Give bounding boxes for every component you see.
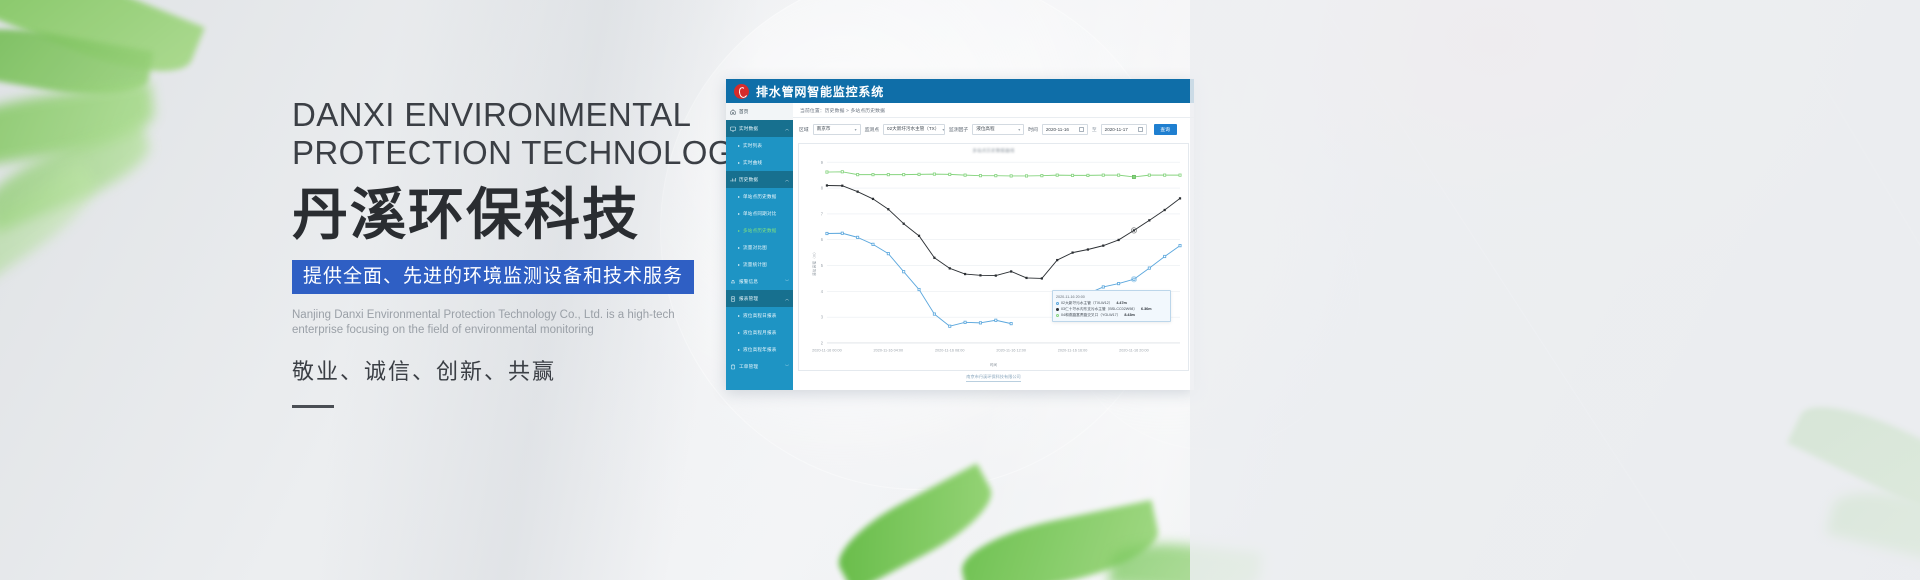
sidebar-item-home[interactable]: 首页	[726, 103, 793, 120]
bullet-icon	[738, 145, 740, 147]
sidebar-subitem-label: 液位高程月报表	[743, 330, 777, 336]
headline-english-line2: PROTECTION TECHNOLOGY	[292, 134, 722, 172]
series-marker-icon	[1056, 314, 1059, 317]
headline-english-line1: DANXI ENVIRONMENTAL	[292, 96, 722, 134]
chevron-up-icon: ︿	[785, 177, 789, 183]
chevron-down-icon: ▾	[942, 127, 944, 132]
sidebar-item-history-data[interactable]: 历史数据 ︿	[726, 171, 793, 188]
date-end-value: 2020-11-17	[1105, 127, 1128, 132]
region-value: 南京市	[817, 126, 831, 132]
sidebar-subitem-label: 单站点历史数据	[743, 194, 777, 200]
bullet-icon	[738, 213, 740, 215]
svg-text:8: 8	[821, 186, 824, 191]
sidebar-subitem-single-site-history[interactable]: 单站点历史数据	[726, 188, 793, 205]
slogan-banner: 提供全面、先进的环境监测设备和技术服务	[292, 260, 694, 294]
svg-text:2020-11-16 12:00: 2020-11-16 12:00	[996, 348, 1026, 352]
calendar-icon	[1138, 127, 1143, 132]
document-icon	[730, 296, 736, 302]
sidebar-subitem-single-site-compare[interactable]: 单站点同期对比	[726, 205, 793, 222]
sidebar-subitem-label: 液位高程日报表	[743, 313, 777, 319]
chart-title: 多站点历史数据曲线	[799, 144, 1188, 154]
chevron-up-icon: ︿	[785, 126, 789, 132]
bullet-icon	[738, 315, 740, 317]
chevron-down-icon: ﹀	[785, 279, 789, 285]
bullet-icon	[738, 349, 740, 351]
sidebar-item-label: 历史数据	[739, 177, 782, 183]
home-icon	[730, 109, 736, 115]
svg-text:2: 2	[821, 340, 824, 345]
sidebar-subitem-realtime-curve[interactable]: 实时曲线	[726, 154, 793, 171]
chart-card: 多站点历史数据曲线 液位高程（m） 时间 987654322020-11-16 …	[798, 143, 1189, 371]
footer-company-link[interactable]: 南京市丹溪环保科技有限公司	[966, 374, 1020, 382]
sidebar-subitem-flow-statistics-chart[interactable]: 流量统计图	[726, 256, 793, 273]
date-range-separator: 至	[1092, 126, 1097, 133]
sidebar-subitem-level-monthly-report[interactable]: 液位高程月报表	[726, 324, 793, 341]
sidebar-subitem-realtime-list[interactable]: 实时列表	[726, 137, 793, 154]
tooltip-time: 2020-11-16 20:00	[1056, 294, 1167, 300]
sidebar-subitem-label: 流量统计图	[743, 262, 767, 268]
chevron-down-icon: ▾	[1018, 127, 1020, 132]
sidebar-item-realtime-data[interactable]: 实时数据 ︿	[726, 120, 793, 137]
series-marker-icon	[1056, 308, 1059, 311]
sidebar-item-label: 工单管理	[739, 364, 782, 370]
sidebar-subitem-level-yearly-report[interactable]: 液位高程年报表	[726, 341, 793, 358]
tooltip-series-value: 8.43m	[1124, 312, 1134, 318]
chevron-down-icon: ﹀	[785, 364, 789, 370]
chevron-down-icon: ▾	[855, 127, 857, 132]
tooltip-series-name: 04和燕路富贵路交叉口（YGLW17）	[1061, 312, 1120, 318]
tooltip-series-value: 6.36m	[1141, 306, 1151, 312]
sidebar-subitem-level-daily-report[interactable]: 液位高程日报表	[726, 307, 793, 324]
svg-text:7: 7	[821, 211, 824, 216]
filter-toolbar: 区域 南京市 ▾ 监测点 02大新圩污水主管（TX） ▾ 监测因子 液位高程 ▾…	[793, 118, 1194, 140]
sidebar-item-label: 实时数据	[739, 126, 782, 132]
sidebar-subitem-label: 单站点同期对比	[743, 211, 777, 217]
sidebar-subitem-label: 流量对比图	[743, 245, 767, 251]
bullet-icon	[738, 162, 740, 164]
bullet-icon	[738, 230, 740, 232]
danxi-logo-icon	[734, 84, 749, 99]
sidebar-subitem-label: 实时列表	[743, 143, 762, 149]
chevron-up-icon: ︿	[785, 296, 789, 302]
chart-tooltip: 2020-11-16 20:00 02大新圩污水主管（TXLW12） 4.47m…	[1052, 290, 1171, 322]
monitoring-app-window: 排水管网智能监控系统 首页 实时数据 ︿ 实时列表	[726, 79, 1194, 390]
time-label: 时间	[1028, 126, 1038, 133]
app-footer: 南京市丹溪环保科技有限公司	[793, 371, 1194, 385]
bullet-icon	[738, 264, 740, 266]
svg-text:3: 3	[821, 315, 824, 320]
svg-text:2020-11-16 04:00: 2020-11-16 04:00	[874, 348, 904, 352]
svg-text:9: 9	[821, 160, 824, 165]
svg-text:2020-11-16 16:00: 2020-11-16 16:00	[1058, 348, 1088, 352]
clipboard-icon	[730, 364, 736, 370]
query-button[interactable]: 查询	[1154, 124, 1177, 135]
region-select[interactable]: 南京市 ▾	[813, 124, 861, 135]
svg-text:4: 4	[821, 289, 824, 294]
region-label: 区域	[799, 126, 809, 133]
factor-label: 监测因子	[949, 126, 968, 133]
bullet-icon	[738, 332, 740, 334]
sidebar-subitem-label: 实时曲线	[743, 160, 762, 166]
svg-text:2020-11-16 00:00: 2020-11-16 00:00	[812, 348, 842, 352]
date-start-input[interactable]: 2020-11-16	[1042, 124, 1088, 135]
sidebar-item-alarm-info[interactable]: 报警信息 ﹀	[726, 273, 793, 290]
site-value: 02大新圩污水主管（TX）	[887, 126, 939, 132]
app-title: 排水管网智能监控系统	[756, 83, 884, 100]
bullet-icon	[738, 247, 740, 249]
series-marker-icon	[1056, 302, 1059, 305]
sidebar-subitem-multi-site-history[interactable]: 多站点历史数据	[726, 222, 793, 239]
tooltip-row: 04和燕路富贵路交叉口（YGLW17） 8.43m	[1056, 312, 1167, 318]
svg-text:6: 6	[821, 237, 824, 242]
divider-rule	[292, 405, 334, 408]
site-label: 监测点	[865, 126, 879, 133]
calendar-icon	[1079, 127, 1084, 132]
breadcrumb: 当前位置：历史数据 > 多站点历史数据	[793, 103, 1194, 118]
sidebar-item-label: 报警信息	[739, 279, 782, 285]
sidebar-subitem-flow-compare-chart[interactable]: 流量对比图	[726, 239, 793, 256]
svg-text:2020-11-16 20:00: 2020-11-16 20:00	[1119, 348, 1149, 352]
chart-svg: 987654322020-11-16 00:002020-11-16 04:00…	[799, 156, 1188, 370]
svg-text:5: 5	[821, 263, 824, 268]
chart-plot-area: 液位高程（m） 时间 987654322020-11-16 00:002020-…	[799, 156, 1188, 370]
sidebar-item-label: 首页	[739, 109, 789, 115]
company-description: Nanjing Danxi Environmental Protection T…	[292, 308, 680, 338]
sidebar-subitem-label: 液位高程年报表	[743, 347, 777, 353]
svg-text:2020-11-16 08:00: 2020-11-16 08:00	[935, 348, 965, 352]
date-end-input[interactable]: 2020-11-17	[1101, 124, 1147, 135]
chart-bar-icon	[730, 177, 736, 183]
sidebar-nav[interactable]: 首页 实时数据 ︿ 实时列表 实时曲线 历史数据	[726, 103, 793, 390]
headline-chinese: 丹溪环保科技	[292, 184, 722, 246]
date-start-value: 2020-11-16	[1046, 127, 1069, 132]
main-content: 当前位置：历史数据 > 多站点历史数据 区域 南京市 ▾ 监测点 02大新圩污水…	[793, 103, 1194, 390]
factor-value: 液位高程	[976, 126, 994, 132]
company-motto: 敬业、诚信、创新、共赢	[292, 354, 722, 386]
monitor-icon	[730, 126, 736, 132]
equipment-photo	[1200, 10, 1760, 530]
sidebar-subitem-label: 多站点历史数据	[743, 228, 777, 234]
hero-copy-block: DANXI ENVIRONMENTAL PROTECTION TECHNOLOG…	[292, 96, 722, 408]
factor-select[interactable]: 液位高程 ▾	[972, 124, 1024, 135]
app-header: 排水管网智能监控系统	[726, 79, 1194, 103]
sidebar-item-work-order-management[interactable]: 工单管理 ﹀	[726, 358, 793, 375]
bullet-icon	[738, 196, 740, 198]
bell-icon	[730, 279, 736, 285]
sidebar-item-report-management[interactable]: 报表管理 ︿	[726, 290, 793, 307]
sidebar-item-label: 报表管理	[739, 296, 782, 302]
site-select[interactable]: 02大新圩污水主管（TX） ▾	[883, 124, 945, 135]
